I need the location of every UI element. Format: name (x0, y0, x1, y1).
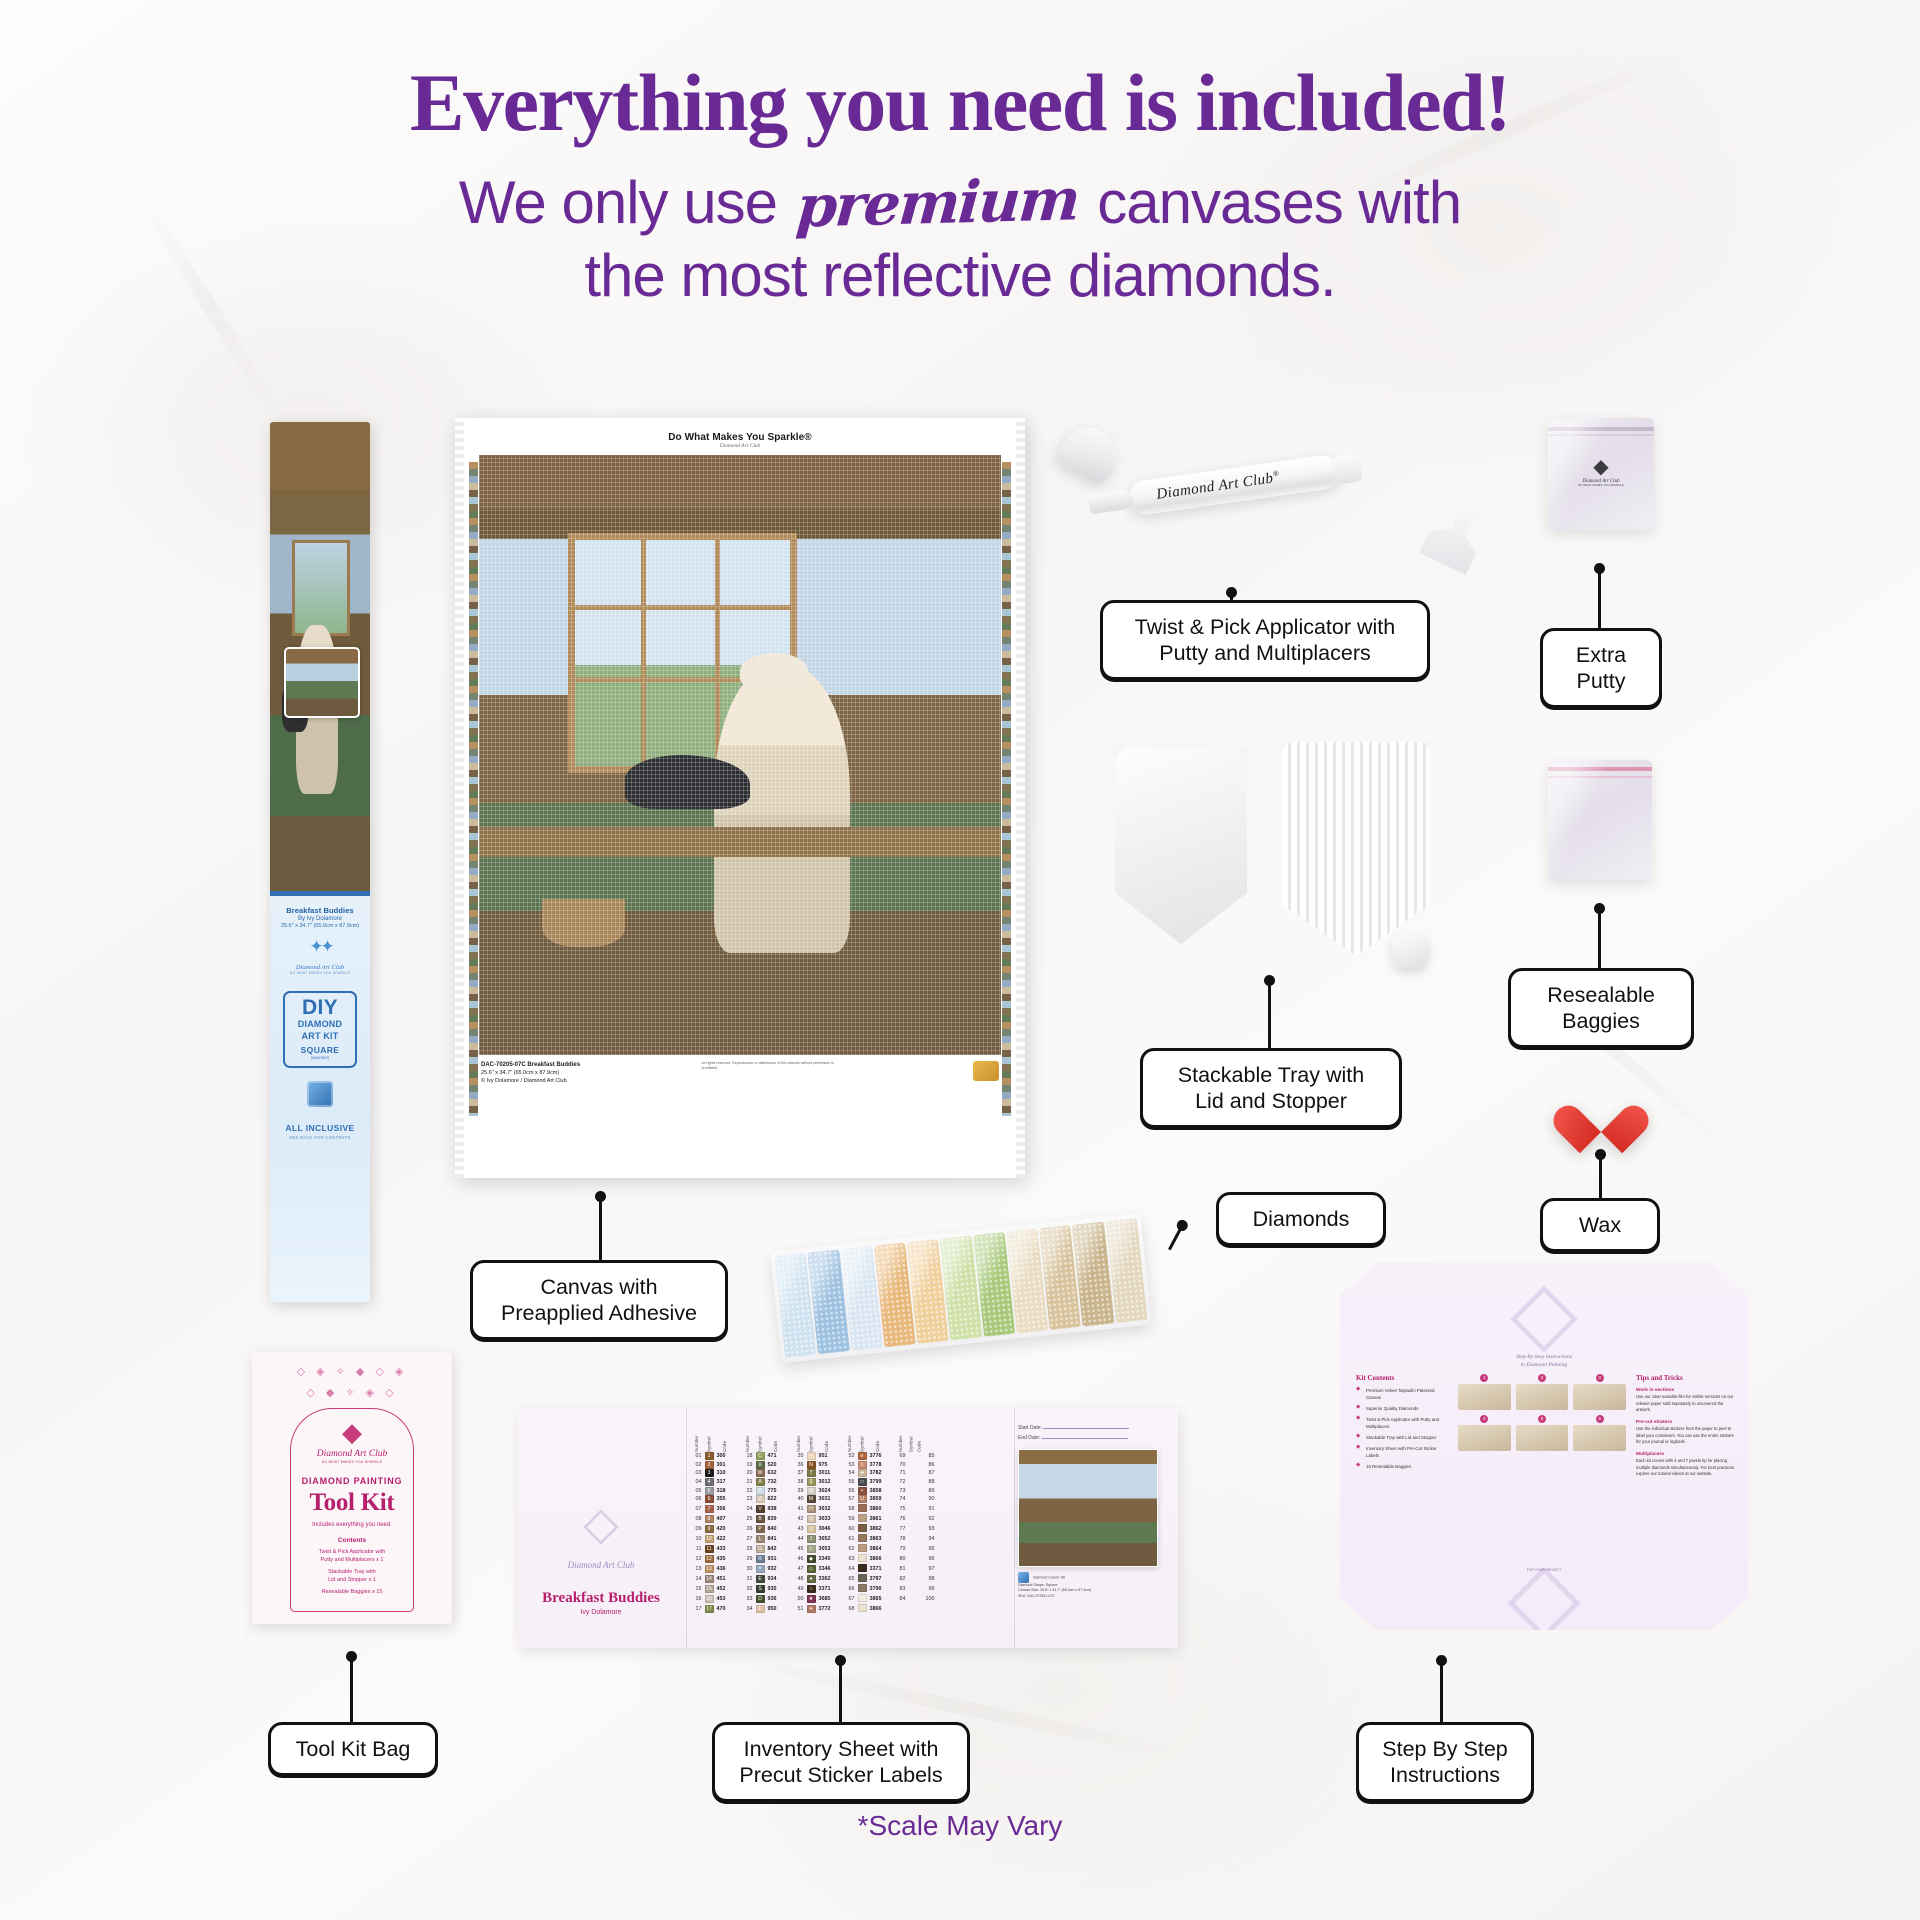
inv-symbol: ✦ (805, 1604, 817, 1614)
inv-code: 3362 (817, 1574, 836, 1584)
tip-title: Work in sections (1636, 1387, 1736, 1394)
inv-code: 950 (766, 1604, 785, 1614)
drill-sub: DIAMONDS (287, 1056, 353, 1060)
inv-code: 3371 (868, 1564, 887, 1574)
inv-symbol: C (754, 1452, 766, 1461)
inv-code: 3033 (817, 1514, 836, 1524)
meta-shape: Diamond Shape: Square (1018, 1583, 1057, 1587)
inv-symbol: + (856, 1486, 868, 1495)
inv-number: 88 (923, 1478, 936, 1487)
canvas-counter (479, 827, 1001, 857)
step-image (1516, 1425, 1569, 1451)
inventory-row: 05531822K77539O302456+38587389 (690, 1486, 936, 1495)
inv-code: 3053 (817, 1544, 836, 1554)
inv-code: 435 (715, 1554, 734, 1564)
inv-symbol: U (856, 1495, 868, 1504)
inv-code: 407 (715, 1514, 734, 1524)
page-title: Everything you need is included! (0, 62, 1920, 144)
inv-number: 96 (923, 1554, 936, 1564)
inv-number: 80 (894, 1554, 907, 1564)
inv-symbol: S (754, 1584, 766, 1594)
inventory-title: Breakfast Buddies (526, 1590, 676, 1607)
inv-code: 3799 (868, 1478, 887, 1487)
kit-content-item: ◆Inventory Sheet with Pre-Cut Sticker La… (1356, 1445, 1448, 1459)
inv-symbol (856, 1554, 868, 1564)
inv-code: 453 (715, 1594, 734, 1604)
inventory-row: 111143328G84245I30536238647995 (690, 1544, 936, 1554)
square-drill-icon (307, 1081, 333, 1107)
inv-number: 72 (894, 1478, 907, 1487)
inventory-row: 09942026P84043U30466038627793 (690, 1524, 936, 1534)
instructions-title-text: Step-By-Step Instructions (1516, 1354, 1572, 1360)
inv-number: 84 (894, 1594, 907, 1604)
callout-wax[interactable]: Wax (1540, 1198, 1660, 1252)
diamond-icon: ◇ (526, 1500, 676, 1546)
pen-brand-label: Diamond Art Club® (1155, 469, 1281, 504)
inv-code: 931 (766, 1554, 785, 1564)
kit-content-item: ◆15 Resealable Baggies (1356, 1463, 1448, 1470)
inv-number: 75 (894, 1504, 907, 1514)
subheading-line-2: the most reflective diamonds. (584, 242, 1335, 309)
inv-code: 775 (766, 1486, 785, 1495)
inv-number: 77 (894, 1524, 907, 1534)
canvas-woman (714, 665, 850, 953)
canvas-credit: © Ivy Dolamore / Diamond Art Club (481, 1078, 567, 1084)
inventory-row: 02230119X52036N97553◊37787086 (690, 1461, 936, 1470)
box-brand-tagline: DO WHAT MAKES YOU SPARKLE (275, 971, 365, 975)
inv-code: 3790 (868, 1584, 887, 1594)
box-band (270, 891, 370, 896)
end-date-label: End Date: (1018, 1435, 1040, 1441)
inv-symbol: ◇ (805, 1564, 817, 1574)
inv-number: 42 (792, 1514, 805, 1524)
inv-code: 3782 (868, 1469, 887, 1478)
box-artist: By Ivy Dolamore (275, 916, 365, 922)
inv-symbol: ★ (805, 1594, 817, 1604)
callout-instructions[interactable]: Step By Step Instructions (1356, 1722, 1534, 1802)
tip-body: Use our clear tearable film for visible … (1636, 1394, 1733, 1412)
inv-code: 3859 (868, 1495, 887, 1504)
instruction-step: 6Place the diamond onto the correspondin… (1573, 1415, 1626, 1451)
inv-number: 31 (741, 1574, 754, 1584)
step-image (1516, 1384, 1569, 1410)
inv-symbol: 3 (703, 1469, 715, 1478)
canvas-header: Do What Makes You Sparkle® Diamond Art C… (465, 426, 1015, 453)
inv-symbol: T (805, 1469, 817, 1478)
inventory-row: 01130018C47135—95152≡37766985 (690, 1452, 936, 1461)
inv-number: 10 (690, 1534, 703, 1544)
inv-code: 301 (715, 1461, 734, 1470)
inv-code: 3011 (817, 1469, 836, 1478)
step-image (1458, 1384, 1511, 1410)
callout-diamonds[interactable]: Diamonds (1216, 1192, 1386, 1246)
inv-number: 61 (843, 1534, 856, 1544)
canvas-window (568, 533, 798, 773)
inv-code: 934 (766, 1574, 785, 1584)
inv-code: 436 (715, 1564, 734, 1574)
inv-code: 471 (766, 1452, 785, 1461)
inv-number: 69 (894, 1452, 907, 1461)
twist-pick-applicator: Diamond Art Club® (1127, 453, 1342, 516)
inventory-column-header: Number (690, 1426, 703, 1452)
product-box: Breakfast Buddies By Ivy Dolamore 25.6" … (270, 422, 370, 1302)
infographic-canvas: Everything you need is included! We only… (0, 0, 1920, 1920)
canvas-header-title: Do What Makes You Sparkle® (465, 432, 1015, 443)
inv-code: 840 (766, 1524, 785, 1534)
inv-symbol (856, 1524, 868, 1534)
inv-code: 932 (766, 1564, 785, 1574)
inv-symbol: B (754, 1514, 766, 1524)
bullet-icon: ◆ (1356, 1387, 1363, 1401)
inv-number: 30 (741, 1564, 754, 1574)
inventory-row: 08840725B83942Q30335938617692 (690, 1514, 936, 1524)
inventory-column-header: Code (817, 1426, 836, 1452)
inv-symbol (856, 1584, 868, 1594)
inventory-row: 161645333D93650★368567386584100 (690, 1594, 936, 1604)
inv-number: 79 (894, 1544, 907, 1554)
inv-number: 90 (923, 1495, 936, 1504)
inv-code: 422 (715, 1534, 734, 1544)
inv-number: 53 (843, 1461, 856, 1470)
inv-number: 58 (843, 1504, 856, 1514)
inv-number: 83 (894, 1584, 907, 1594)
inv-number: 35 (792, 1452, 805, 1461)
instruction-tip: Work in sectionsUse our clear tearable f… (1636, 1387, 1736, 1414)
inv-symbol: L (754, 1534, 766, 1544)
toolkit-frame: ◆ Diamond Art Club DO WHAT MAKES YOU SPA… (290, 1408, 414, 1613)
inv-symbol: 9 (703, 1524, 715, 1534)
inv-symbol: K (754, 1486, 766, 1495)
inventory-table: NumberSymbolCodeNumberSymbolCodeNumberSy… (690, 1426, 936, 1614)
inventory-column-header: Number (843, 1426, 856, 1452)
instructions-footer: FOR YOUR PROJECT (1340, 1568, 1748, 1572)
subheading: We only use premium canvases with the mo… (0, 166, 1920, 312)
inv-number: 47 (792, 1564, 805, 1574)
bullet-icon: ◆ (1356, 1434, 1363, 1441)
inventory-column-header: Number (894, 1426, 907, 1452)
drill-shape: SQUARE (287, 1045, 353, 1055)
bag-shine (1548, 418, 1654, 530)
callout-applicator[interactable]: Twist & Pick Applicator with Putty and M… (1100, 600, 1430, 680)
box-info-panel: Breakfast Buddies By Ivy Dolamore 25.6" … (270, 896, 370, 1302)
inventory-artist: Ivy Dolamore (526, 1609, 676, 1616)
header: Everything you need is included! We only… (0, 62, 1920, 312)
inv-number: 41 (792, 1504, 805, 1514)
inv-number: 87 (923, 1469, 936, 1478)
inventory-column-header: Code (715, 1426, 734, 1452)
inv-symbol: 12 (703, 1554, 715, 1564)
scale-footnote: *Scale May Vary (0, 1810, 1920, 1842)
inventory-row: 101042227L84144J30526138637894 (690, 1534, 936, 1544)
gem-pattern-icon: ◇ ◈ ✧ ◆ ◇ ◈◇ ◆ ✧ ◈ ◇ (260, 1362, 444, 1404)
inv-code: 3371 (817, 1584, 836, 1594)
step-number: 6 (1596, 1415, 1604, 1423)
applicator-endcap (1331, 453, 1363, 485)
inv-code: 3024 (817, 1486, 836, 1495)
inventory-right-panel: Start Date: End Date: Diamond Colors: 68… (1018, 1424, 1168, 1599)
step-number: 5 (1538, 1415, 1546, 1423)
stackable-tray (1282, 742, 1430, 956)
inv-number: 34 (741, 1604, 754, 1614)
inv-code: 3032 (817, 1504, 836, 1514)
canvas-color-key-left (469, 462, 478, 1116)
inv-number: 25 (741, 1514, 754, 1524)
inv-code: 822 (766, 1495, 785, 1504)
diamond-icon: ◆ (295, 1419, 409, 1445)
inv-symbol: U (805, 1524, 817, 1534)
toolkit-brand-tagline: DO WHAT MAKES YOU SPARKLE (295, 1460, 409, 1464)
inv-code: 310 (715, 1469, 734, 1478)
inv-symbol: P (754, 1524, 766, 1534)
multiplacer-tool (1419, 497, 1493, 576)
inv-number: 20 (741, 1469, 754, 1478)
diamond-icon: ◇ (1510, 1268, 1578, 1356)
inv-number (894, 1604, 907, 1614)
artkit-label: ART KIT (287, 1032, 353, 1042)
canvas-footer: DAC-70205-07C Breakfast Buddies 25.6" x … (465, 1055, 1015, 1086)
leader-line-instructions (1440, 1660, 1443, 1726)
inv-symbol: 16 (703, 1594, 715, 1604)
inv-symbol: 14 (703, 1574, 715, 1584)
inv-code: 838 (766, 1504, 785, 1514)
inv-number: 08 (690, 1514, 703, 1524)
steps-column: 1Peel back the film covering the canvas … (1458, 1374, 1626, 1451)
inventory-row: 07735624V83841H30325838607591 (690, 1504, 936, 1514)
inventory-column-header: Symbol (754, 1426, 766, 1452)
inv-number: 03 (690, 1469, 703, 1478)
canvas-legal: All rights reserved. Reproduction or dis… (702, 1061, 852, 1072)
toolkit-contents-list: Twist & Pick Applicator with Putty and M… (295, 1548, 409, 1597)
inv-number: 68 (843, 1604, 856, 1614)
inventory-column-header: Number (792, 1426, 805, 1452)
inventory-sheet: ◇ Diamond Art Club Breakfast Buddies Ivy… (518, 1408, 1178, 1648)
inv-symbol: ◆ (805, 1554, 817, 1564)
toolkit-content-item: Twist & Pick Applicator with Putty and M… (295, 1548, 409, 1565)
tool-kit-bag: ◇ ◈ ✧ ◆ ◇ ◈◇ ◆ ✧ ◈ ◇ ◆ Diamond Art Club … (252, 1352, 452, 1624)
inv-symbol: 2 (703, 1461, 715, 1470)
callout-canvas[interactable]: Canvas with Preapplied Adhesive (470, 1260, 728, 1340)
inventory-left-panel: ◇ Diamond Art Club Breakfast Buddies Ivy… (526, 1422, 676, 1616)
heart-icon (1572, 1082, 1630, 1136)
inv-code: 433 (715, 1544, 734, 1554)
all-inclusive-label: ALL INCLUSIVE (275, 1123, 365, 1133)
inv-number: 59 (843, 1514, 856, 1524)
tip-title: Multiplacers (1636, 1451, 1736, 1458)
inv-number: 100 (923, 1594, 936, 1604)
inventory-meta: Diamond Colors: 68 Diamond Shape: Square… (1018, 1572, 1168, 1599)
bullet-icon: ◆ (1356, 1405, 1363, 1412)
inv-symbol: R (754, 1554, 766, 1564)
callout-resealable-baggies[interactable]: Resealable Baggies (1508, 968, 1694, 1048)
inv-code: 3858 (868, 1486, 887, 1495)
inv-symbol (856, 1544, 868, 1554)
toolkit-brand: Diamond Art Club (295, 1449, 409, 1459)
inv-number: 12 (690, 1554, 703, 1564)
inv-code: 936 (766, 1594, 785, 1604)
inv-number: 94 (923, 1534, 936, 1544)
inv-number: 70 (894, 1461, 907, 1470)
inv-symbol: X (754, 1461, 766, 1470)
inv-number: 85 (923, 1452, 936, 1461)
inventory-row: 141445131E93448●33626537878298 (690, 1574, 936, 1584)
canvas-size: 25.6" x 34.7" (65.0cm x 87.9cm) (481, 1070, 559, 1076)
diamond-label: DIAMOND (287, 1020, 353, 1030)
inv-number: 40 (792, 1495, 805, 1504)
inv-symbol: 10 (703, 1534, 715, 1544)
start-date-row: Start Date: (1018, 1424, 1168, 1431)
tip-title: Pre-cut stickers (1636, 1419, 1736, 1426)
canvas-cat (625, 755, 750, 809)
inv-number: 09 (690, 1524, 703, 1534)
inv-code: 3685 (817, 1594, 836, 1604)
inv-number: 21 (741, 1478, 754, 1487)
inv-number: 73 (894, 1486, 907, 1495)
canvas-sku: DAC-70205-07C Breakfast Buddies (481, 1062, 580, 1068)
inv-number: 39 (792, 1486, 805, 1495)
inv-symbol: ◊ (856, 1461, 868, 1470)
inventory-column-header: Symbol (703, 1426, 715, 1452)
box-title: Breakfast Buddies (275, 906, 365, 915)
inv-symbol: F (754, 1604, 766, 1614)
inv-number: 05 (690, 1486, 703, 1495)
inv-code: 3860 (868, 1504, 887, 1514)
inv-number: 26 (741, 1524, 754, 1534)
inv-number: 92 (923, 1514, 936, 1524)
diy-label: DIY (287, 998, 353, 1018)
inv-number: 29 (741, 1554, 754, 1564)
inv-number: 02 (690, 1461, 703, 1470)
inv-number: 06 (690, 1495, 703, 1504)
inv-number: 93 (923, 1524, 936, 1534)
inventory-row: 131343630Y93247◇33466433718197 (690, 1564, 936, 1574)
kit-content-item: ◆Twist & Pick Applicator with Putty and … (1356, 1416, 1448, 1430)
inv-number: 74 (894, 1495, 907, 1504)
instructions-subtitle: to Diamond Painting (1340, 1362, 1748, 1368)
inventory-row: 121243529R93146◆33456338668096 (690, 1554, 936, 1564)
callout-tool-kit-bag[interactable]: Tool Kit Bag (268, 1722, 438, 1776)
inv-symbol: ● (805, 1574, 817, 1584)
inv-symbol (856, 1514, 868, 1524)
inv-code: 3866 (868, 1554, 887, 1564)
inv-code: 951 (817, 1452, 836, 1461)
inv-symbol: W (754, 1469, 766, 1478)
canvas-artwork (479, 455, 1001, 1055)
tips-column: Tips and Tricks Work in sectionsUse our … (1636, 1374, 1736, 1483)
inv-code: 3866 (868, 1604, 887, 1614)
inventory-row: 03331020W63237T301154➜37827187 (690, 1469, 936, 1478)
start-date-field[interactable] (1043, 1424, 1129, 1429)
callout-inventory-sheet[interactable]: Inventory Sheet with Precut Sticker Labe… (712, 1722, 970, 1802)
tip-body: Each kit comes with 4 and 7 jewels tip f… (1636, 1458, 1734, 1476)
inv-number: 63 (843, 1554, 856, 1564)
inv-number: 38 (792, 1478, 805, 1487)
instruction-step: 2Select a symbol on the canvas you would… (1516, 1374, 1569, 1410)
canvas-basket (542, 899, 626, 947)
inv-symbol: 5 (703, 1486, 715, 1495)
extra-putty-bag: ◆ Diamond Art Club DO WHAT MAKES YOU SPA… (1548, 418, 1654, 530)
toolkit-title: Tool Kit (295, 1489, 409, 1517)
toolkit-content-item: Stackable Tray with Lid and Stopper x 1 (295, 1568, 409, 1585)
inventory-row: 171747034F95051✦3772683866 (690, 1604, 936, 1614)
inventory-column-header: Symbol (907, 1426, 915, 1452)
inv-number: 16 (690, 1594, 703, 1604)
inv-number: 27 (741, 1534, 754, 1544)
inv-code: 470 (715, 1604, 734, 1614)
inv-symbol (856, 1574, 868, 1584)
instruction-tip: Pre-cut stickersUse the individual stick… (1636, 1419, 1736, 1446)
inv-symbol: M (805, 1495, 817, 1504)
inv-number: 36 (792, 1461, 805, 1470)
inv-code: 3345 (817, 1554, 836, 1564)
inv-number: 62 (843, 1544, 856, 1554)
toolkit-includes: Includes everything you need. (295, 1522, 409, 1528)
inv-code: 3012 (817, 1478, 836, 1487)
inv-symbol: O (805, 1486, 817, 1495)
inv-symbol (856, 1504, 868, 1514)
inv-number: 18 (741, 1452, 754, 1461)
inv-code: 3772 (817, 1604, 836, 1614)
inv-code: 3787 (868, 1574, 887, 1584)
inv-number: 78 (894, 1534, 907, 1544)
inv-code: 3865 (868, 1594, 887, 1604)
inv-symbol: 13 (703, 1564, 715, 1574)
end-date-field[interactable] (1042, 1434, 1128, 1439)
subheading-part-2: canvases with (1097, 169, 1461, 236)
inv-code: 935 (766, 1584, 785, 1594)
inv-number: 71 (894, 1469, 907, 1478)
resealable-baggie (1548, 760, 1652, 880)
inv-code: 841 (766, 1534, 785, 1544)
inv-number: 95 (923, 1544, 936, 1554)
inv-symbol: 17 (703, 1604, 715, 1614)
callout-extra-putty[interactable]: Extra Putty (1540, 628, 1662, 708)
step-number: 4 (1480, 1415, 1488, 1423)
inv-symbol: 6 (703, 1495, 715, 1504)
bag-shine (1548, 760, 1652, 880)
inv-number: 46 (792, 1554, 805, 1564)
inv-symbol: □ (856, 1478, 868, 1487)
diamond-pouch-strip (770, 1213, 1152, 1363)
inv-code: 975 (817, 1461, 836, 1470)
inv-number: 44 (792, 1534, 805, 1544)
inv-number: 04 (690, 1478, 703, 1487)
inv-number: 14 (690, 1574, 703, 1584)
box-dimensions: 25.6" x 34.7" (65.0cm x 87.9cm) (275, 923, 365, 929)
callout-stackable-tray[interactable]: Stackable Tray with Lid and Stopper (1140, 1048, 1402, 1128)
bullet-icon: ◆ (1356, 1445, 1363, 1459)
box-thumbnail (284, 647, 360, 717)
kit-content-item: ◆Premium Velvet Tarpaulin Patented Canva… (1356, 1387, 1448, 1401)
inv-symbol: 1 (703, 1452, 715, 1461)
inv-code: 3046 (817, 1524, 836, 1534)
toolkit-contents-heading: Contents (295, 1537, 409, 1544)
toolkit-content-item: Resealable Baggies x 15 (295, 1588, 409, 1597)
inv-number: 19 (741, 1461, 754, 1470)
inv-symbol (856, 1564, 868, 1574)
inv-symbol: H (805, 1504, 817, 1514)
inv-number: 49 (792, 1584, 805, 1594)
inventory-row: 04431721A73238$301255□37997288 (690, 1478, 936, 1487)
inv-number: 32 (741, 1584, 754, 1594)
inv-code: 839 (766, 1514, 785, 1524)
inv-symbol: $ (805, 1478, 817, 1487)
subheading-script-word: premium (789, 164, 1084, 242)
instructions-title: Step-By-Step Instructions to Diamond Pai… (1340, 1350, 1748, 1368)
inv-number: 01 (690, 1452, 703, 1461)
subheading-part-1: We only use (459, 169, 777, 236)
inv-number: 22 (741, 1486, 754, 1495)
inv-number: 60 (843, 1524, 856, 1534)
